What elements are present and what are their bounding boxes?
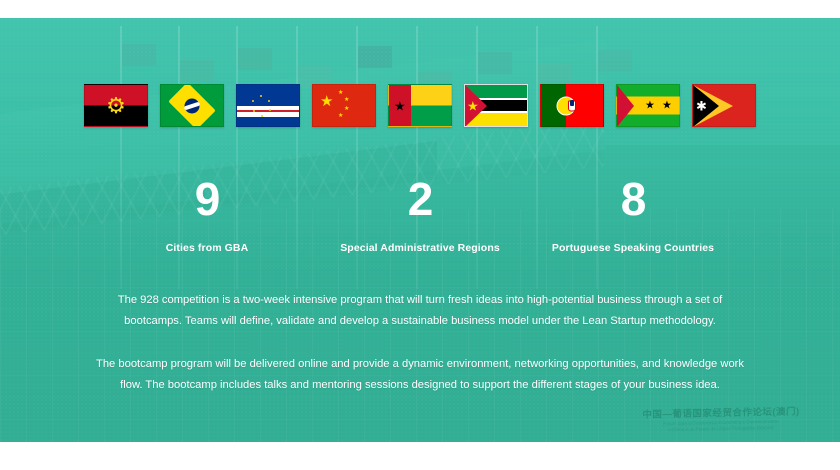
flag-brazil <box>160 84 224 127</box>
sao-tome-star-icon: ★ <box>662 100 672 111</box>
stat-number: 8 <box>527 173 740 225</box>
page-root: 中国—葡语国家经贸合作论坛(澳门) Forum para a Cooperaca… <box>0 0 840 470</box>
stat-label: Special Administrative Regions <box>314 241 527 255</box>
flag-china: ★ ★ ★ ★ ★ <box>312 84 376 127</box>
flag-angola: ⚙ <box>84 84 148 127</box>
china-small-star-icon: ★ <box>338 113 343 119</box>
description-copy: The 928 competition is a two-week intens… <box>90 290 750 396</box>
flag-sao-tome-and-principe: ★ ★ <box>616 84 680 127</box>
stat-label: Portuguese Speaking Countries <box>527 241 740 255</box>
stat-portuguese-speaking-countries: 8 Portuguese Speaking Countries <box>527 173 740 255</box>
guinea-bissau-star-icon: ★ <box>394 99 406 112</box>
stat-cities-from-gba: 9 Cities from GBA <box>101 173 314 255</box>
mozambique-star-icon: ★ <box>467 99 479 112</box>
stat-number: 9 <box>101 173 314 225</box>
china-small-star-icon: ★ <box>344 106 349 112</box>
stat-label: Cities from GBA <box>101 241 314 255</box>
china-large-star-icon: ★ <box>320 94 333 109</box>
flag-cape-verde <box>236 84 300 127</box>
stat-special-administrative-regions: 2 Special Administrative Regions <box>314 173 527 255</box>
timor-star-icon: ✱ <box>696 99 707 112</box>
flag-mozambique: ★ <box>464 84 528 127</box>
portugal-inner-escutcheon-icon <box>570 100 574 106</box>
sao-tome-star-icon: ★ <box>645 100 655 111</box>
flag-timor-leste: ✱ <box>692 84 756 127</box>
paragraph-bootcamp-details: The bootcamp program will be delivered o… <box>90 354 750 396</box>
country-flags-row: ⚙ ★ <box>0 84 840 127</box>
cape-verde-star-circle-icon <box>250 95 272 117</box>
china-small-star-icon: ★ <box>344 97 349 103</box>
paragraph-competition-overview: The 928 competition is a two-week intens… <box>90 290 750 332</box>
flag-guinea-bissau: ★ <box>388 84 452 127</box>
china-small-star-icon: ★ <box>338 90 343 96</box>
hero-banner: 中国—葡语国家经贸合作论坛(澳门) Forum para a Cooperaca… <box>0 18 840 442</box>
sao-tome-red-triangle <box>617 85 634 127</box>
statistics-row: 9 Cities from GBA 2 Special Administrati… <box>0 173 840 255</box>
angola-emblem-icon: ⚙ <box>106 95 126 117</box>
hero-content: ⚙ ★ <box>0 18 840 442</box>
stat-number: 2 <box>314 173 527 225</box>
flag-portugal <box>540 84 604 127</box>
